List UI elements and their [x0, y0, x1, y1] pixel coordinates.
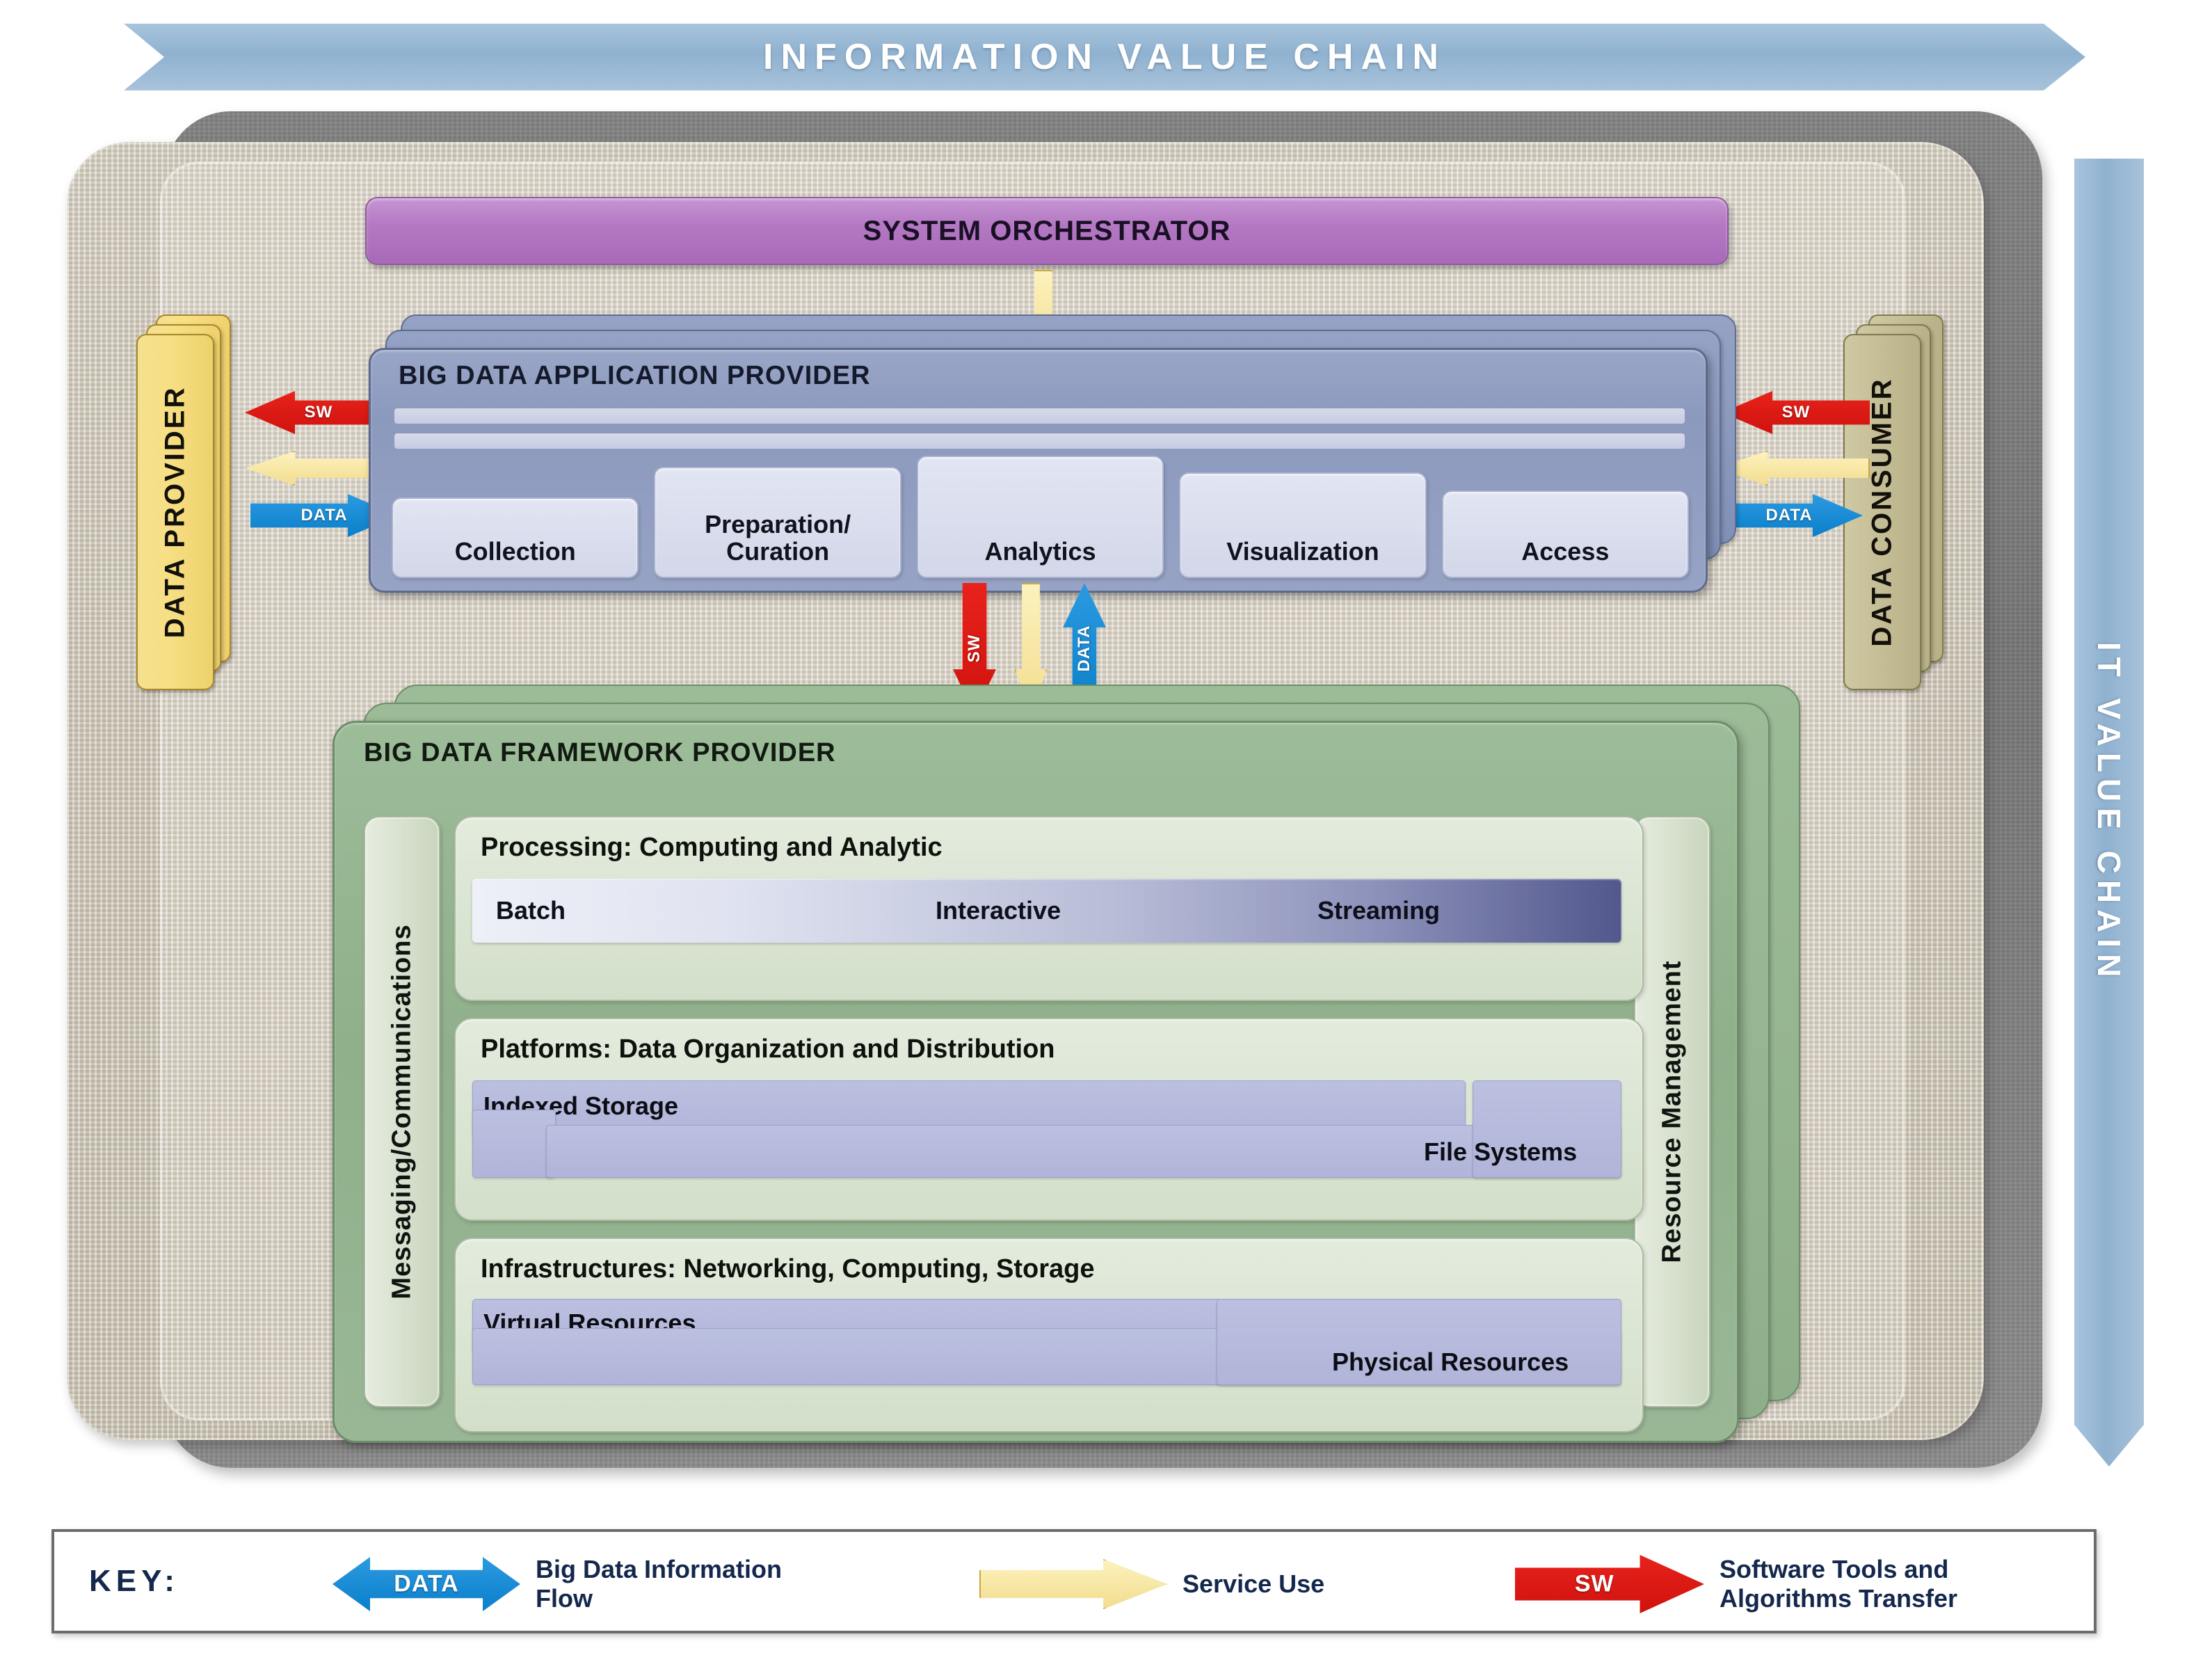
data-consumer-label: DATA CONSUMER — [1867, 377, 1898, 646]
processing-stop-streaming: Streaming — [1317, 896, 1440, 925]
infrastructures-physical-resources-label: Physical Resources — [1332, 1348, 1569, 1377]
it-value-chain-banner: IT VALUE CHAIN — [2074, 159, 2144, 1467]
framework-row-processing-title: Processing: Computing and Analytic — [481, 833, 943, 863]
information-value-chain-label: INFORMATION VALUE CHAIN — [763, 36, 1446, 78]
processing-stop-batch: Batch — [496, 896, 566, 925]
sw-arrow-label-left: SW — [305, 403, 333, 422]
cell-label-visualization: Visualization — [1226, 538, 1379, 566]
application-provider-strip-1 — [394, 408, 1685, 424]
key-item-software-transfer: SW Software Tools and Algorithms Transfe… — [1515, 1532, 1957, 1636]
resource-management-label: Resource Management — [1658, 960, 1688, 1263]
key-legend: KEY: DATA Big Data Information Flow Serv… — [51, 1529, 2097, 1633]
platforms-left-connector — [472, 1110, 556, 1178]
key-sw-arrow-icon: SW — [1515, 1555, 1704, 1613]
application-provider-title: BIG DATA APPLICATION PROVIDER — [399, 361, 871, 391]
data-arrow-label-right: DATA — [1765, 506, 1812, 525]
it-value-chain-label: IT VALUE CHAIN — [2090, 642, 2128, 984]
messaging-communications-pill[interactable]: Messaging/Communications — [364, 816, 440, 1407]
information-value-chain-banner: INFORMATION VALUE CHAIN — [124, 24, 2085, 90]
processing-gradient-bar: Batch Interactive Streaming — [472, 879, 1621, 943]
application-provider-cells: Collection Preparation/ Curation Analyti… — [392, 456, 1689, 578]
application-provider-cell-preparation-curation[interactable]: Preparation/ Curation — [654, 467, 901, 578]
application-provider-card-front: BIG DATA APPLICATION PROVIDER Collection… — [369, 348, 1708, 593]
framework-row-infrastructures[interactable]: Infrastructures: Networking, Computing, … — [454, 1238, 1644, 1432]
key-data-flow-line2: Flow — [536, 1584, 782, 1613]
application-provider-cell-access[interactable]: Access — [1442, 490, 1689, 578]
sw-arrow-label-vertical: SW — [965, 634, 984, 663]
key-item-service-use-text: Service Use — [1183, 1569, 1324, 1599]
cell-label-preparation-curation: Preparation/ Curation — [705, 511, 851, 566]
data-arrow-label-left: DATA — [300, 506, 347, 525]
key-service-use-line1: Service Use — [1183, 1569, 1324, 1599]
resource-management-pill[interactable]: Resource Management — [1634, 816, 1710, 1407]
framework-row-infrastructures-title: Infrastructures: Networking, Computing, … — [481, 1254, 1095, 1284]
data-provider-label: DATA PROVIDER — [160, 386, 191, 639]
framework-row-processing[interactable]: Processing: Computing and Analytic Batch… — [454, 816, 1644, 1001]
system-orchestrator-label: SYSTEM ORCHESTRATOR — [863, 216, 1231, 247]
key-sw-arrow-label: SW — [1575, 1571, 1614, 1598]
key-item-service-use: Service Use — [979, 1532, 1324, 1636]
key-data-flow-line1: Big Data Information — [536, 1555, 782, 1584]
cell-label-collection: Collection — [455, 538, 576, 566]
data-provider-card-front: DATA PROVIDER — [136, 334, 214, 690]
application-provider-strip-2 — [394, 433, 1685, 449]
key-data-arrow-label: DATA — [394, 1571, 458, 1598]
diagram-canvas: INFORMATION VALUE CHAIN IT VALUE CHAIN M… — [0, 0, 2212, 1678]
system-orchestrator-box[interactable]: SYSTEM ORCHESTRATOR — [365, 197, 1729, 265]
key-item-data-flow: DATA Big Data Information Flow — [332, 1532, 782, 1636]
key-service-use-arrow-icon — [979, 1559, 1167, 1609]
cell-label-analytics: Analytics — [984, 538, 1096, 566]
application-provider-cell-visualization[interactable]: Visualization — [1179, 472, 1426, 578]
big-data-framework-provider[interactable]: BIG DATA FRAMEWORK PROVIDER Messaging/Co… — [332, 685, 1800, 1443]
framework-row-platforms[interactable]: Platforms: Data Organization and Distrib… — [454, 1018, 1644, 1221]
sw-arrow-label-right: SW — [1782, 403, 1811, 422]
key-data-arrow-icon: DATA — [332, 1557, 520, 1611]
key-item-data-flow-text: Big Data Information Flow — [536, 1555, 782, 1613]
data-consumer-card-front: DATA CONSUMER — [1843, 334, 1921, 690]
key-sw-line2: Algorithms Transfer — [1720, 1584, 1957, 1613]
key-item-software-transfer-text: Software Tools and Algorithms Transfer — [1720, 1555, 1957, 1613]
application-provider-cell-analytics[interactable]: Analytics — [917, 456, 1164, 578]
processing-stop-interactive: Interactive — [936, 896, 1061, 925]
platforms-file-systems-label: File Systems — [1424, 1137, 1577, 1167]
messaging-communications-label: Messaging/Communications — [387, 924, 417, 1299]
application-provider-cell-collection[interactable]: Collection — [392, 497, 639, 578]
data-arrow-label-vertical: DATA — [1075, 625, 1094, 671]
key-sw-line1: Software Tools and — [1720, 1555, 1957, 1584]
key-legend-title: KEY: — [89, 1564, 179, 1599]
framework-row-platforms-title: Platforms: Data Organization and Distrib… — [481, 1034, 1055, 1064]
big-data-application-provider[interactable]: BIG DATA APPLICATION PROVIDER Collection… — [369, 314, 1736, 593]
cell-label-access: Access — [1521, 538, 1609, 566]
data-provider-box[interactable]: DATA PROVIDER — [136, 314, 234, 690]
framework-provider-card-front: BIG DATA FRAMEWORK PROVIDER Messaging/Co… — [332, 721, 1739, 1443]
data-consumer-box[interactable]: DATA CONSUMER — [1843, 314, 1948, 690]
framework-provider-title: BIG DATA FRAMEWORK PROVIDER — [364, 738, 836, 768]
